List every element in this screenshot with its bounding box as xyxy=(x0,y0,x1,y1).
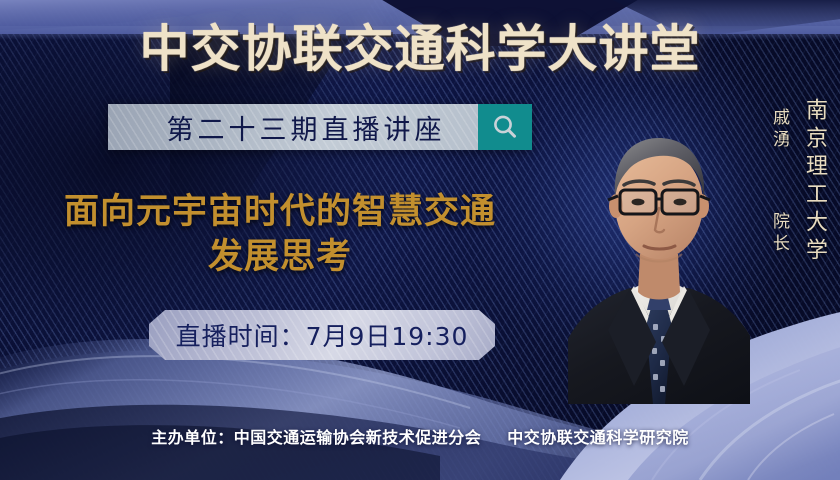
headline-line-1: 面向元宇宙时代的智慧交通 xyxy=(20,190,540,235)
speaker-portrait xyxy=(568,86,750,404)
episode-banner-text-area: 第二十三期直播讲座 xyxy=(108,104,478,150)
episode-banner: 第二十三期直播讲座 xyxy=(108,104,532,150)
headline-line-2: 发展思考 xyxy=(20,235,540,280)
lecture-headline: 面向元宇宙时代的智慧交通 发展思考 xyxy=(20,190,540,280)
footer-org-2: 中交协联交通科学研究院 xyxy=(507,428,689,447)
search-icon-box[interactable] xyxy=(478,104,532,150)
footer-org-1: 中国交通运输协会新技术促进分会 xyxy=(234,428,482,447)
speaker-name: 戚湧 xyxy=(767,108,792,152)
footer-organizers: 主办单位：中国交通运输协会新技术促进分会中交协联交通科学研究院 xyxy=(0,424,840,448)
speaker-organization: 南京理工大学 xyxy=(798,98,830,266)
footer-prefix: 主办单位： xyxy=(151,428,234,447)
search-icon xyxy=(490,112,520,142)
broadcast-time-label: 直播时间：7月9日19:30 xyxy=(176,317,469,353)
speaker-title: 院长 xyxy=(767,212,792,256)
broadcast-time-badge: 直播时间：7月9日19:30 xyxy=(149,310,495,360)
episode-label: 第二十三期直播讲座 xyxy=(141,108,446,147)
live-stream-poster: 中交协联交通科学大讲堂 第二十三期直播讲座 面向元宇宙时代的智慧交通 发展思考 … xyxy=(0,0,840,480)
page-title: 中交协联交通科学大讲堂 xyxy=(0,20,840,78)
